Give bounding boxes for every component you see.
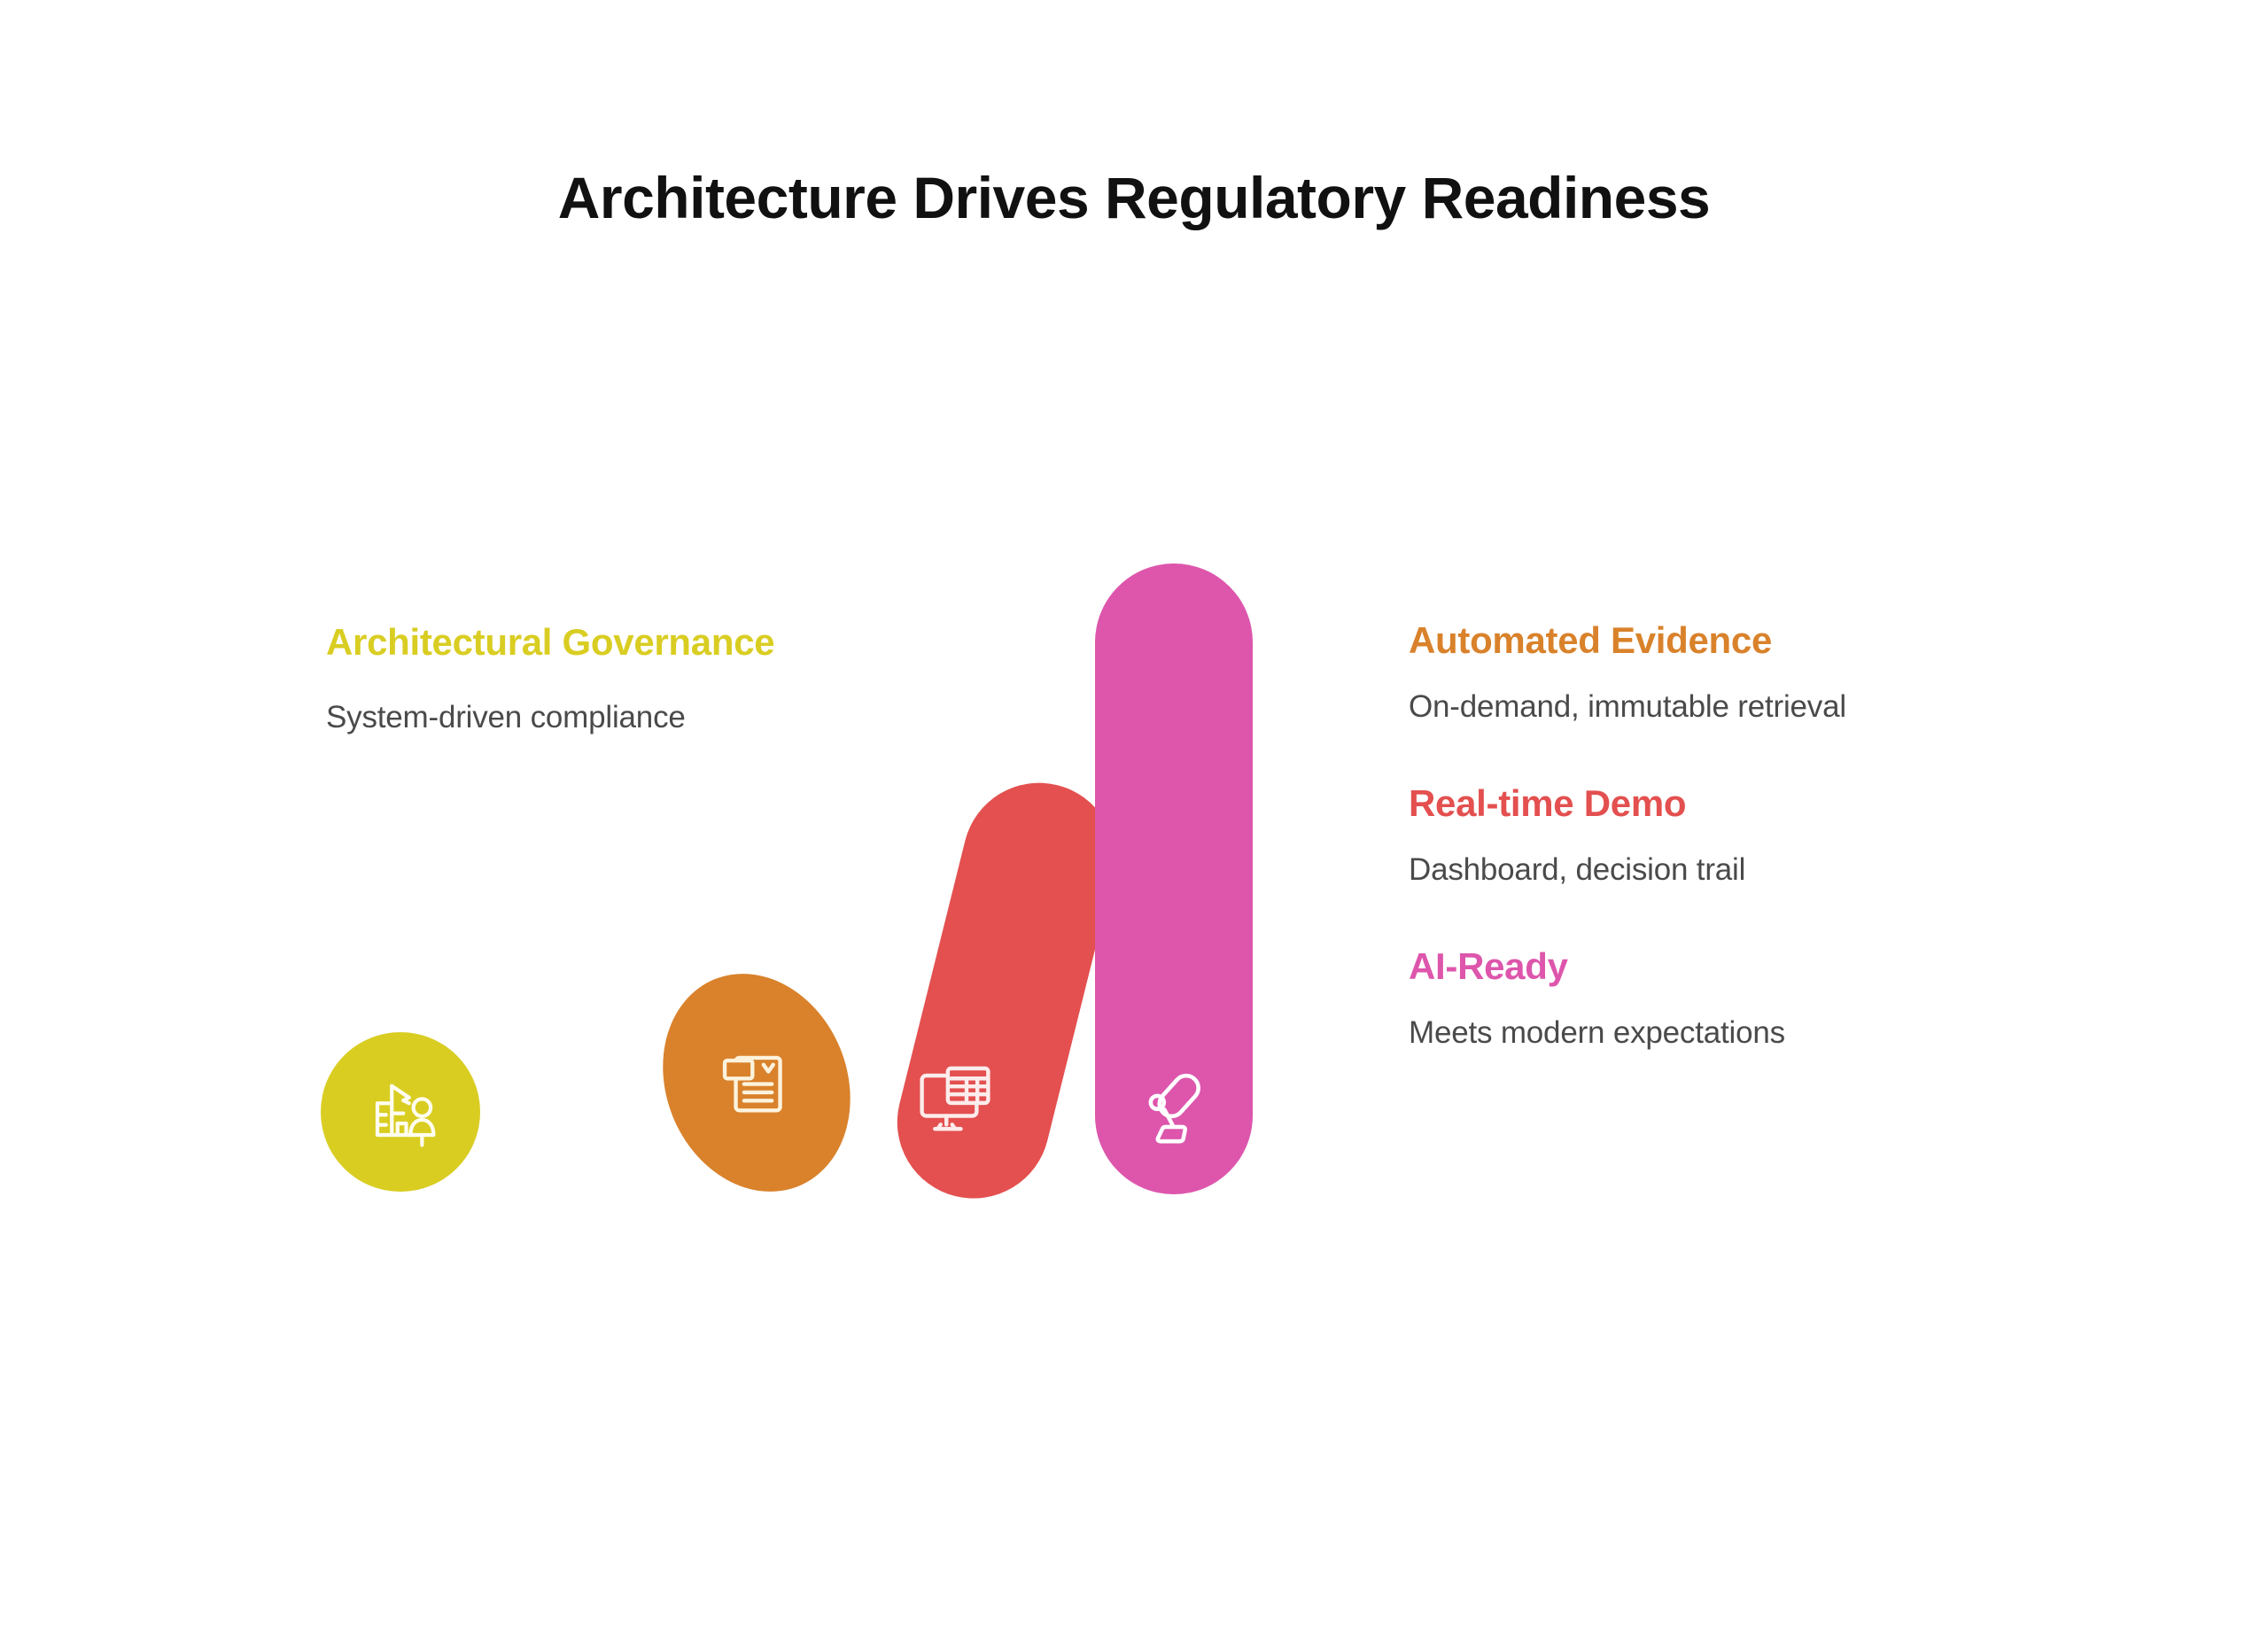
item-title-ai-ready: AI-Ready — [1409, 946, 2117, 987]
item-title-automated-evidence: Automated Evidence — [1409, 620, 2117, 661]
right-label-block: Automated Evidence On-demand, immutable … — [1409, 620, 2117, 1053]
item-desc-architectural-governance: System-driven compliance — [326, 697, 822, 738]
microphone-icon — [1095, 1028, 1253, 1187]
item-title-architectural-governance: Architectural Governance — [326, 620, 822, 664]
building-person-icon — [321, 1032, 480, 1192]
item-desc-automated-evidence: On-demand, immutable retrieval — [1409, 688, 2117, 727]
list-item: Real-time Demo Dashboard, decision trail — [1409, 783, 2117, 890]
item-title-real-time-demo: Real-time Demo — [1409, 783, 2117, 824]
list-item: Architectural Governance System-driven c… — [326, 620, 822, 738]
infographic-container: Architectural Governance System-driven c… — [0, 0, 2268, 1632]
document-check-icon — [666, 971, 847, 1194]
left-label-block: Architectural Governance System-driven c… — [326, 620, 822, 738]
item-desc-real-time-demo: Dashboard, decision trail — [1409, 851, 2117, 890]
list-item: AI-Ready Meets modern expectations — [1409, 946, 2117, 1053]
monitor-table-icon — [879, 1019, 1031, 1178]
item-desc-ai-ready: Meets modern expectations — [1409, 1014, 2117, 1053]
list-item: Automated Evidence On-demand, immutable … — [1409, 620, 2117, 727]
